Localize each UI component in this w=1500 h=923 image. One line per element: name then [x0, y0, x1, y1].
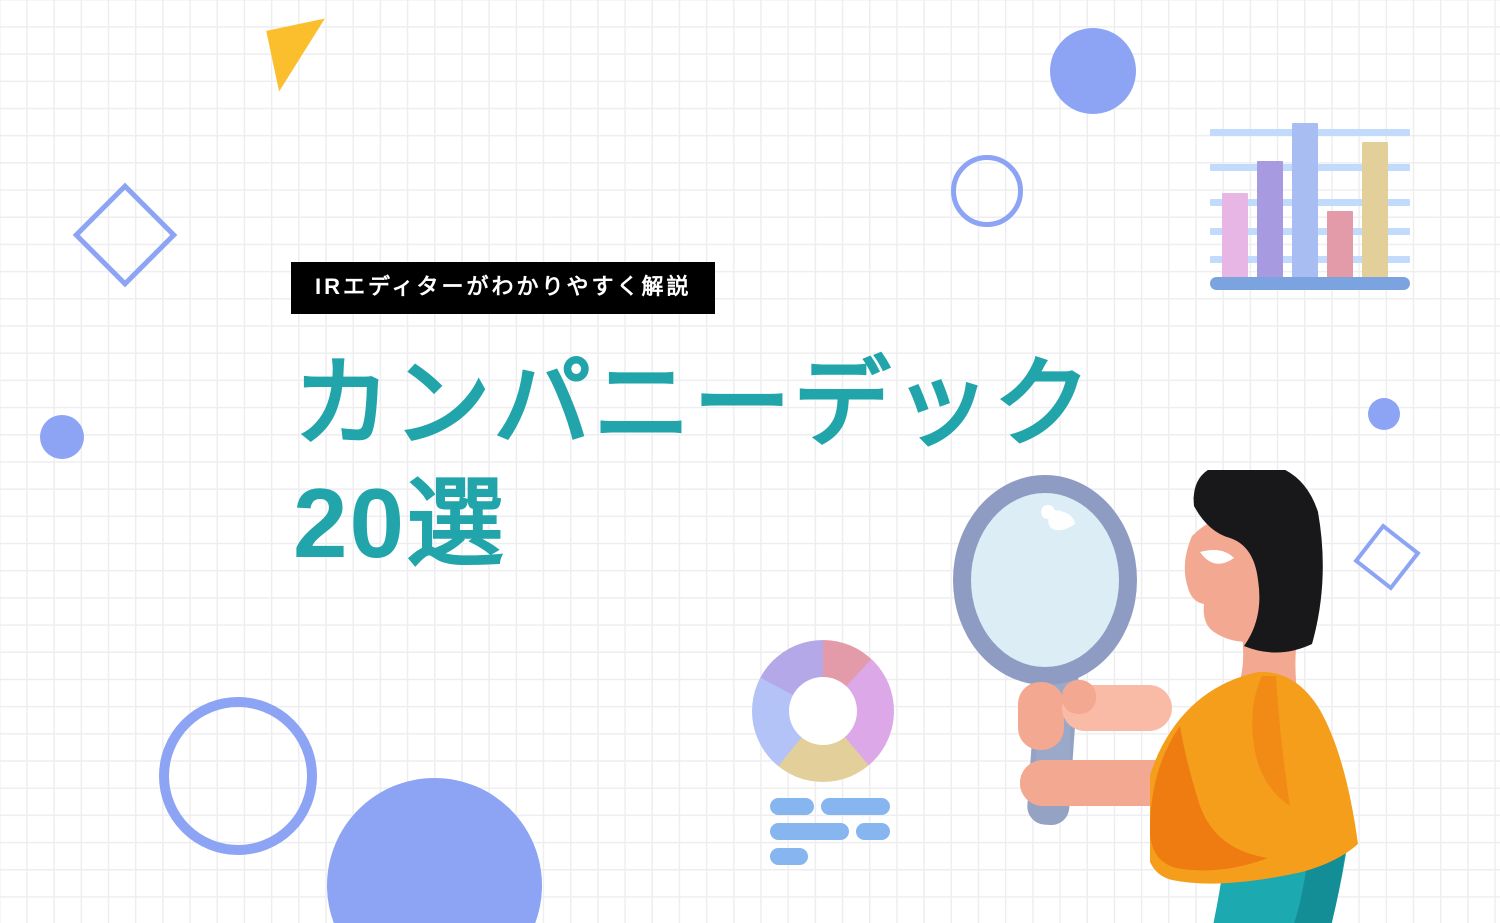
filled-circle-top-right-icon [1050, 28, 1136, 114]
bar-chart-bars [1222, 123, 1398, 281]
small-dot-right-icon [1368, 398, 1400, 430]
legend-bar [770, 798, 814, 815]
legend-bar [856, 823, 890, 840]
bar-chart [1210, 115, 1410, 290]
bar-chart-bar [1362, 142, 1388, 281]
woman-figure-illustration [1150, 470, 1500, 923]
donut-chart [752, 640, 894, 782]
eyebrow-badge: IRエディターがわかりやすく解説 [291, 262, 715, 314]
legend-bar [821, 798, 890, 815]
bar-chart-bar [1257, 161, 1283, 281]
bar-chart-bar [1327, 211, 1353, 281]
bar-chart-bar [1222, 193, 1248, 281]
bar-chart-bar [1292, 123, 1318, 281]
small-dot-left-icon [40, 415, 84, 459]
outline-circle-bottom-left-icon [159, 697, 317, 855]
outline-diamond-left-icon [73, 183, 178, 288]
yellow-triangle-icon [266, 18, 338, 91]
legend-row [770, 848, 890, 865]
bar-chart-baseline [1210, 277, 1410, 290]
large-circle-bottom-icon [327, 778, 542, 923]
legend-bar [770, 848, 808, 865]
magnifier-lens-icon [953, 475, 1137, 685]
poster-canvas: IRエディターがわかりやすく解説 カンパニーデック 20選 [0, 0, 1500, 923]
legend-row [770, 823, 890, 840]
donut-chart-hole [789, 677, 857, 745]
hand-upper-icon [1018, 680, 1172, 750]
legend-row [770, 798, 890, 815]
legend-bar [770, 823, 849, 840]
chart-legend-bars [770, 798, 890, 873]
outline-circle-top-right-icon [951, 155, 1023, 227]
